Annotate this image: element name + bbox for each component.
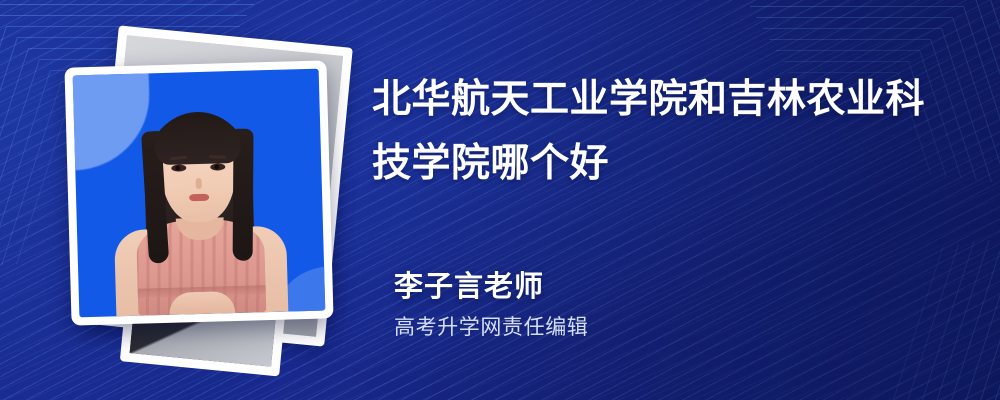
article-header-banner: 北华航天工业学院和吉林农业科技学院哪个好 李子言老师 高考升学网责任编辑 [0,0,1000,400]
article-title: 北华航天工业学院和吉林农业科技学院哪个好 [372,68,952,196]
author-role: 高考升学网责任编辑 [394,314,588,342]
text-column: 北华航天工业学院和吉林农业科技学院哪个好 李子言老师 高考升学网责任编辑 [372,0,972,400]
portrait-figure [92,103,308,317]
photo-card-front [64,60,333,325]
author-name: 李子言老师 [394,268,588,306]
author-photo-stack [46,24,356,374]
shoulders [100,219,302,317]
hair-front [154,117,241,165]
author-byline: 李子言老师 高考升学网责任编辑 [394,268,588,342]
nose [196,178,202,189]
author-portrait-photo [73,69,326,318]
hands [169,291,236,315]
mouth [189,194,209,202]
